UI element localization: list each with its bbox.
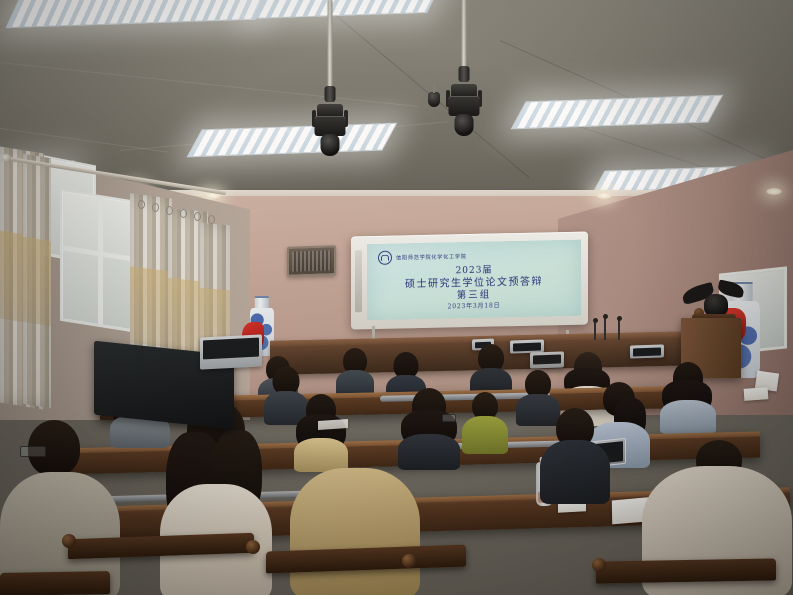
audience-member xyxy=(294,394,348,466)
curtain-ring xyxy=(180,209,187,218)
curtain-ring xyxy=(152,203,159,212)
audience-member-foreground xyxy=(540,408,610,498)
ceiling-seam xyxy=(0,62,418,107)
downlight xyxy=(596,192,612,199)
chair-back[interactable] xyxy=(596,558,776,583)
curtain-ring xyxy=(208,215,215,224)
microphone xyxy=(618,320,620,340)
microphone xyxy=(604,318,606,340)
hanging-projector-left xyxy=(310,0,350,160)
body xyxy=(540,440,610,504)
audience-member-foreground xyxy=(0,420,120,595)
projection-screen-surface: 信阳师范学院化学化工学院 2023届 硕士研究生学位论文预答辩 第三组 2023… xyxy=(367,240,581,320)
body xyxy=(398,434,460,470)
ceiling-light-panel-4 xyxy=(511,95,724,130)
curtain-ring xyxy=(138,200,145,209)
university-logo-icon xyxy=(378,251,392,265)
paper-sheet[interactable] xyxy=(744,387,769,401)
projection-screen[interactable]: 信阳师范学院化学化工学院 2023届 硕士研究生学位论文预答辩 第三组 2023… xyxy=(351,232,588,330)
audience-member-foreground xyxy=(290,468,420,595)
glasses-icon xyxy=(20,446,46,457)
hanging-projector-right xyxy=(444,0,484,160)
lecture-hall-photo: 信阳师范学院化学化工学院 2023届 硕士研究生学位论文预答辩 第三组 2023… xyxy=(0,0,793,595)
body xyxy=(294,438,348,472)
body xyxy=(660,400,716,434)
curtain-middle[interactable] xyxy=(23,154,51,408)
slide-organization: 信阳师范学院化学化工学院 xyxy=(396,253,467,261)
screen-mount-left xyxy=(372,326,375,339)
audience-member xyxy=(660,362,716,428)
glasses-icon xyxy=(442,414,456,422)
slide-header: 信阳师范学院化学化工学院 xyxy=(378,249,467,265)
chair-knob xyxy=(246,540,260,554)
av-control-console-secondary[interactable] xyxy=(530,351,564,368)
av-control-console[interactable] xyxy=(200,334,262,369)
curtain-rod-cap xyxy=(2,154,11,163)
audience-member-foreground xyxy=(160,400,272,595)
chair-knob xyxy=(402,554,416,568)
audience-member xyxy=(398,388,460,466)
ceiling-light-panel-1 xyxy=(5,0,272,28)
chair-knob xyxy=(592,558,606,572)
chair-knob xyxy=(62,534,76,548)
audience-member xyxy=(336,348,374,396)
curtain-ring xyxy=(194,212,201,221)
slide-body: 2023届 硕士研究生学位论文预答辩 第三组 xyxy=(367,264,581,304)
body xyxy=(462,416,508,454)
ceiling-seam xyxy=(0,128,168,153)
window-mullion xyxy=(98,196,103,325)
desk-nameplate xyxy=(630,344,664,358)
body-tan-coat xyxy=(290,468,420,595)
wall-mounted-panel xyxy=(287,245,336,277)
microphone xyxy=(594,322,596,340)
downlight xyxy=(766,188,782,195)
curtain-ring xyxy=(166,206,173,215)
ceiling-light-panel-3 xyxy=(187,123,398,158)
audience-member xyxy=(462,392,508,452)
hanging-speaker-small xyxy=(428,92,440,107)
chair-back[interactable] xyxy=(0,571,110,595)
